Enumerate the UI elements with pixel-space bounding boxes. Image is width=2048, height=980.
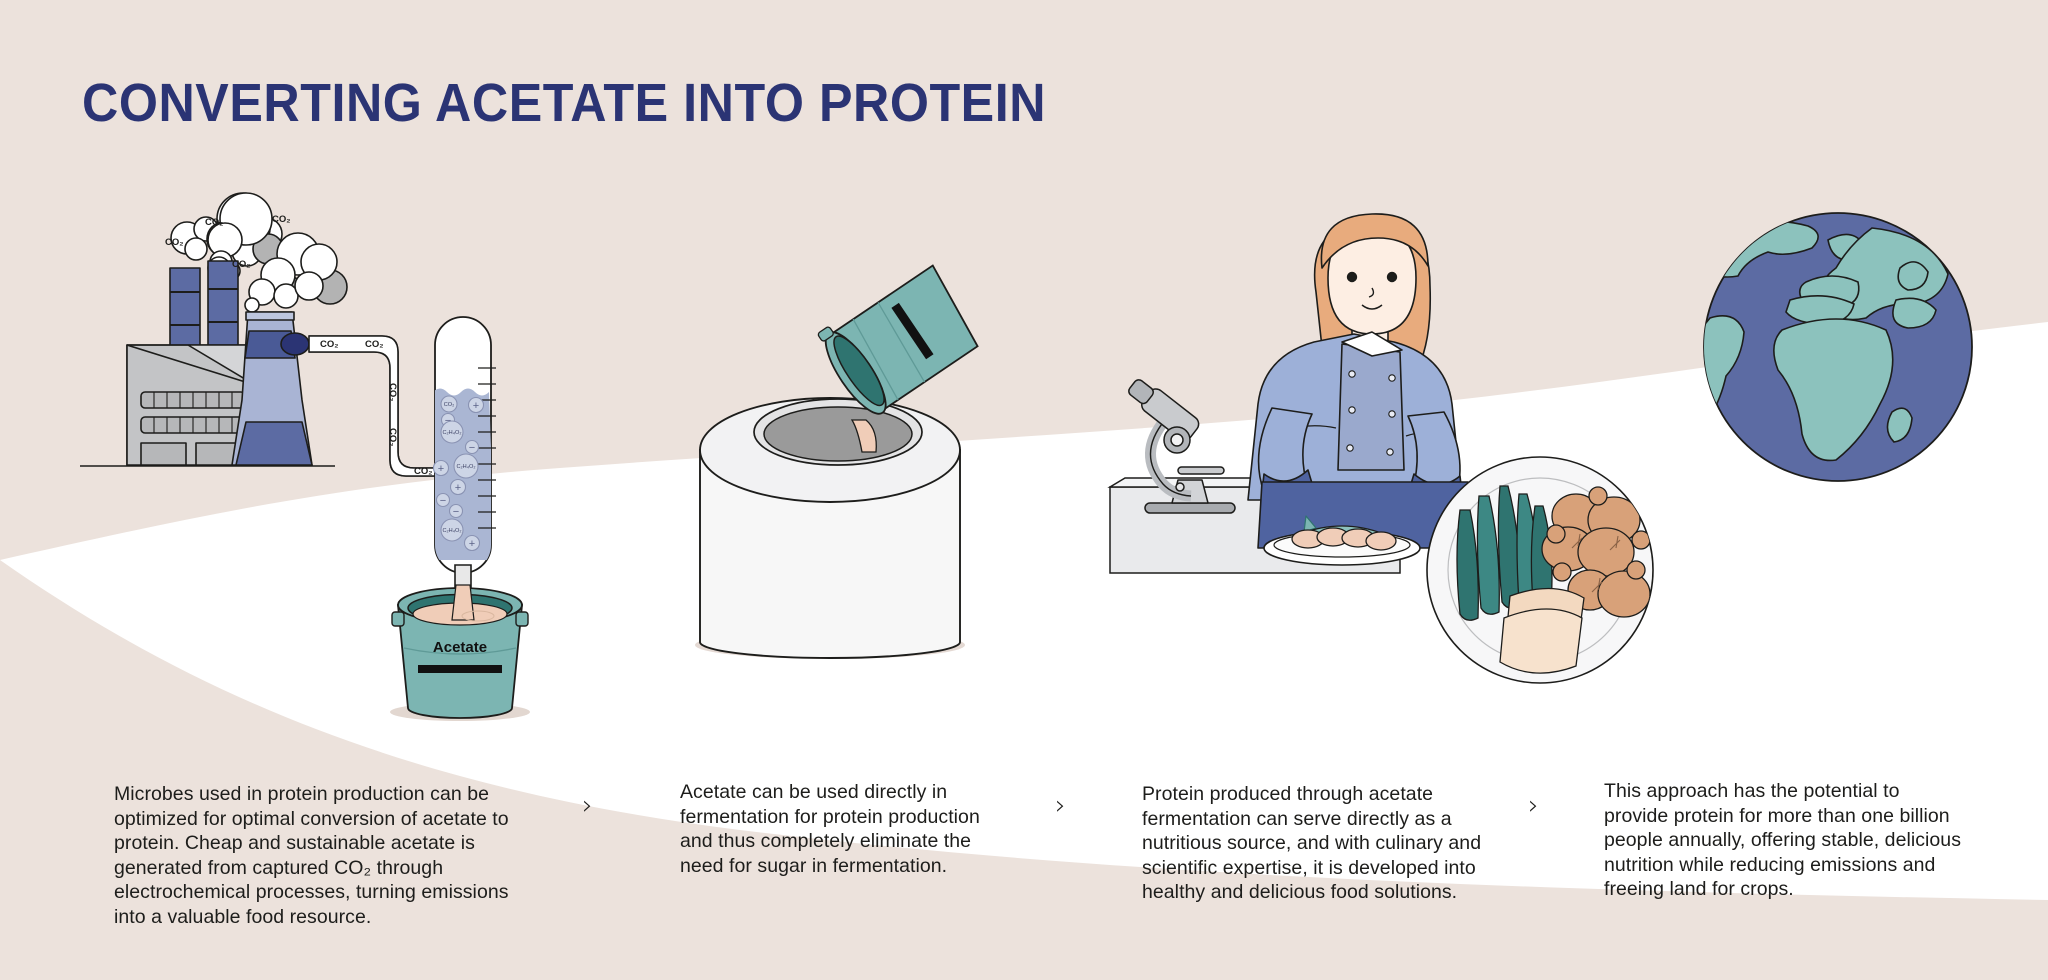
bucket-black-bar — [418, 665, 502, 673]
svg-text:CO₂: CO₂ — [165, 237, 183, 248]
caption-row: Microbes used in protein production can … — [0, 782, 2048, 972]
caption-microbes-text: Microbes used in protein production can … — [114, 782, 514, 930]
bucket-label-text: Acetate — [433, 639, 487, 656]
caption-fermentation: Acetate can be used directly in fermenta… — [680, 780, 1000, 878]
cooling-tower-base — [236, 422, 312, 465]
caption-culinary-text: Protein produced through acetate ferment… — [1142, 782, 1492, 905]
svg-text:C₂H₄O₂: C₂H₄O₂ — [456, 464, 475, 470]
svg-text:−: − — [440, 495, 446, 507]
cooling-tower-rim — [246, 312, 294, 320]
pipe-inlet-port — [281, 333, 309, 355]
svg-text:CO₂: CO₂ — [365, 339, 383, 350]
step-separator-3-icon: › — [1528, 792, 1539, 819]
plated-food-circle — [1427, 457, 1653, 683]
step-separator-1-icon: › — [582, 792, 593, 819]
factory-door-left — [141, 443, 186, 465]
page-title: CONVERTING ACETATE INTO PROTEIN — [82, 72, 1046, 134]
svg-text:+: + — [473, 400, 479, 412]
svg-text:CO₂: CO₂ — [387, 428, 398, 446]
svg-text:CO₂: CO₂ — [444, 402, 455, 408]
microscope-stage — [1178, 467, 1224, 474]
svg-text:CO₂: CO₂ — [320, 339, 338, 350]
microscope-base — [1145, 503, 1235, 513]
caption-fermentation-text: Acetate can be used directly in fermenta… — [680, 780, 1000, 878]
chef-eye-right — [1388, 273, 1397, 282]
svg-text:−: − — [445, 415, 451, 427]
caption-global-impact-text: This approach has the potential to provi… — [1604, 779, 1969, 902]
svg-text:C₂H₄O₂: C₂H₄O₂ — [442, 528, 461, 534]
acetate-bucket: Acetate — [390, 585, 530, 721]
svg-text:−: − — [453, 506, 459, 518]
svg-text:C₂H₄O₂: C₂H₄O₂ — [442, 430, 461, 436]
infographic-root: CO₂ CO₂ CO₂ CO₂ CO₂ CO₂ CO₂ CO₂ CO₂ — [0, 0, 2048, 980]
svg-text:CO₂: CO₂ — [232, 259, 250, 270]
microscope-focus-knob — [1176, 483, 1184, 491]
svg-text:+: + — [469, 538, 475, 550]
bucket-handle-left — [392, 612, 404, 626]
caption-microbes: Microbes used in protein production can … — [114, 782, 514, 930]
svg-text:CO₂: CO₂ — [272, 214, 290, 225]
bread-slices — [1500, 588, 1584, 673]
svg-text:CO₂: CO₂ — [414, 466, 432, 477]
bucket-handle-right — [516, 612, 528, 626]
caption-global-impact: This approach has the potential to provi… — [1604, 779, 1969, 902]
chef-eye-left — [1348, 273, 1357, 282]
step-separator-2-icon: › — [1055, 792, 1066, 819]
tank-opening-inner — [764, 407, 912, 461]
svg-text:CO₂: CO₂ — [387, 383, 398, 401]
svg-text:−: − — [469, 442, 475, 454]
caption-culinary: Protein produced through acetate ferment… — [1142, 782, 1492, 905]
svg-text:CO₂: CO₂ — [205, 217, 223, 228]
microscope-lens — [1171, 434, 1183, 446]
svg-text:+: + — [455, 482, 461, 494]
svg-text:+: + — [438, 463, 444, 475]
